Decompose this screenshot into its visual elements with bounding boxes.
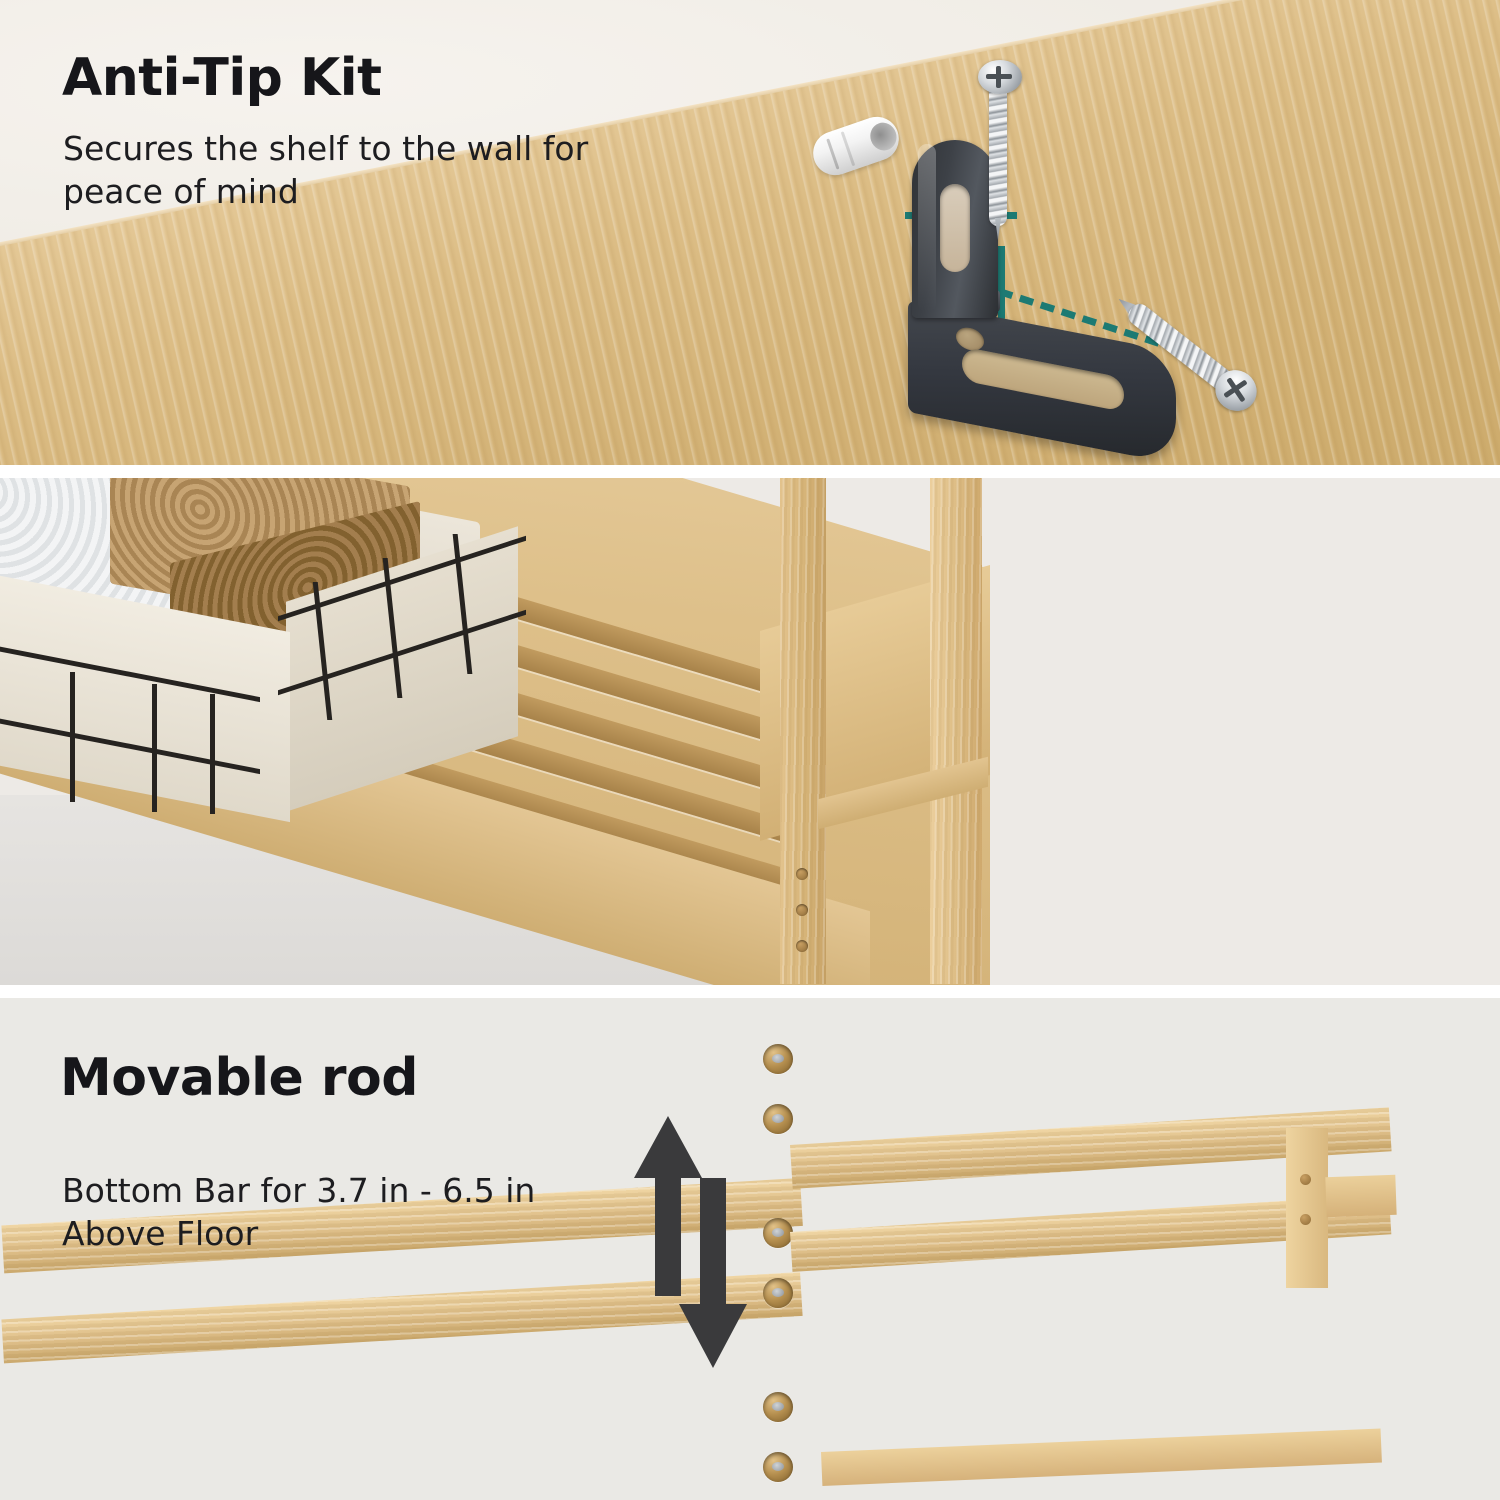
post-peg-hole [796, 868, 808, 880]
phillips-slot-horizontal [986, 74, 1012, 79]
anti-tip-subcopy-line-2: peace of mind [63, 171, 588, 214]
wall-screw-head [978, 60, 1022, 94]
bamboo-bottom-bar [821, 1429, 1382, 1486]
rod-subcopy-line-2: Above Floor [62, 1213, 535, 1256]
feature-infographic-sheet: Anti-Tip Kit Secures the shelf to the wa… [0, 0, 1500, 1500]
movable-rod-headline: Movable rod [60, 1052, 418, 1105]
peg-hole [763, 1392, 793, 1422]
arrows-svg [634, 1116, 754, 1406]
rod-subcopy-line-1: Bottom Bar for 3.7 in - 6.5 in [62, 1170, 535, 1213]
anti-tip-subcopy-line-1: Secures the shelf to the wall for [63, 128, 588, 171]
wall-screw-tip [995, 218, 1001, 240]
bamboo-shelf-scene [0, 478, 1500, 985]
peg-hole [763, 1044, 793, 1074]
post-peg-hole [796, 904, 808, 916]
movable-rod-subcopy: Bottom Bar for 3.7 in - 6.5 in Above Flo… [62, 1170, 535, 1256]
connector-screw [1300, 1214, 1311, 1225]
rail-stub [1325, 1175, 1396, 1217]
bamboo-post-left [780, 478, 826, 984]
panel-anti-tip: Anti-Tip Kit Secures the shelf to the wa… [0, 0, 1500, 465]
peg-hole [763, 1278, 793, 1308]
peg-hole [763, 1218, 793, 1248]
fabric-wire-basket [0, 478, 520, 802]
wall-screw-shaft [989, 86, 1007, 226]
connector-screw [1300, 1174, 1311, 1185]
basket-wire-vertical [210, 694, 215, 814]
basket-wire-vertical [152, 684, 157, 812]
bracket-sheen [918, 144, 936, 312]
bracket-vertical-slot [940, 184, 970, 272]
anti-tip-headline: Anti-Tip Kit [62, 52, 381, 105]
height-adjust-arrows [634, 1116, 754, 1406]
peg-hole [763, 1104, 793, 1134]
arrow-up-icon [634, 1116, 702, 1296]
bamboo-post-right [930, 478, 982, 984]
wall-screw [978, 60, 1022, 250]
panel-divider-bottom [0, 985, 1500, 998]
rail-connector-bracket [1286, 1128, 1328, 1288]
panel-divider-top [0, 465, 1500, 478]
anti-tip-subcopy: Secures the shelf to the wall for peace … [63, 128, 588, 214]
peg-hole [763, 1452, 793, 1482]
bracket-round-hole [956, 325, 984, 352]
arrow-down-icon [679, 1178, 747, 1368]
post-peg-hole [796, 940, 808, 952]
basket-wire-vertical [70, 672, 75, 802]
panel-renewable-bamboo: Renewable Bamboo Smooth surface, no harm… [0, 478, 1500, 985]
